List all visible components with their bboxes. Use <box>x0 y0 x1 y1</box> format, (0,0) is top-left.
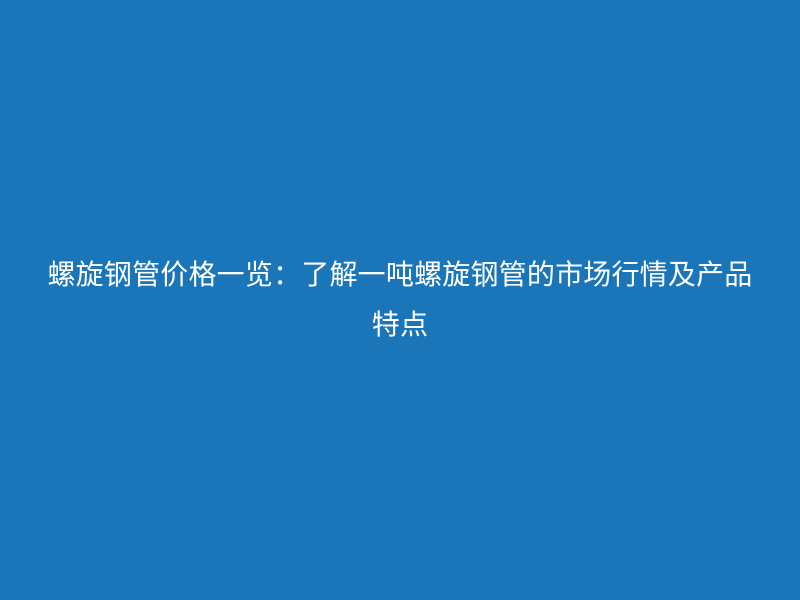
banner-canvas: 螺旋钢管价格一览：了解一吨螺旋钢管的市场行情及产品特点 <box>0 0 800 600</box>
banner-title-block: 螺旋钢管价格一览：了解一吨螺旋钢管的市场行情及产品特点 <box>0 250 800 350</box>
banner-title: 螺旋钢管价格一览：了解一吨螺旋钢管的市场行情及产品特点 <box>36 250 764 350</box>
